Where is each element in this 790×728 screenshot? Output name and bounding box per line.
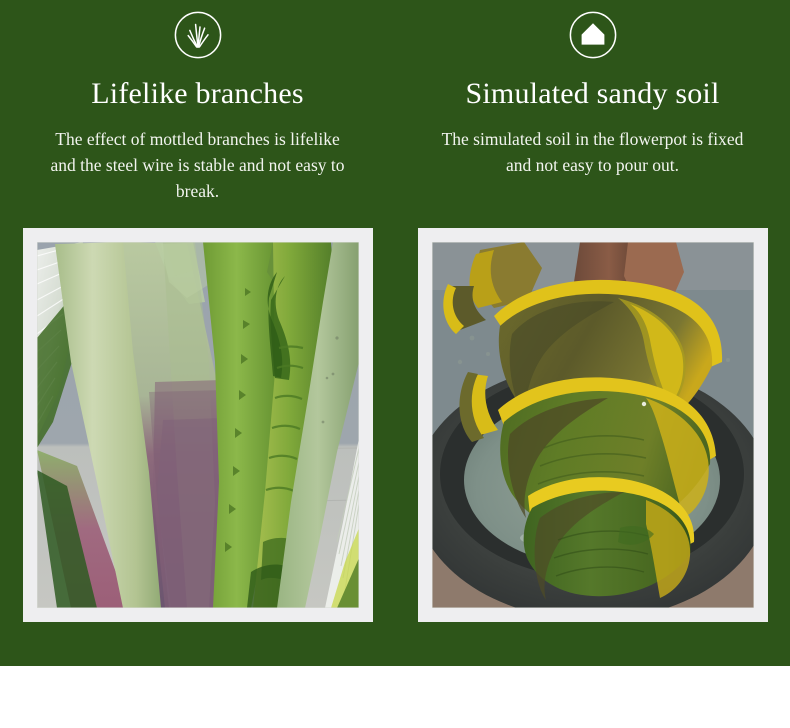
photo-card-slot-left (0, 228, 395, 622)
photo-card-slot-right (395, 228, 790, 622)
photo-card (23, 228, 373, 622)
grass-icon-svg (173, 10, 223, 60)
page-title: Simulated sandy soil (466, 76, 720, 112)
sandy-soil-photo-svg (432, 242, 754, 608)
feature-description: The simulated soil in the flowerpot is f… (433, 126, 753, 178)
page-title: Lifelike branches (91, 76, 303, 112)
feature-column-lifelike-branches: Lifelike branches The effect of mottled … (0, 0, 395, 204)
photo-card (418, 228, 768, 622)
grass-icon (173, 10, 223, 60)
feature-columns: Lifelike branches The effect of mottled … (0, 0, 790, 204)
home-icon-svg (568, 10, 618, 60)
photo-card-row (0, 228, 790, 622)
sandy-soil-photo (432, 242, 754, 608)
feature-column-simulated-sandy-soil: Simulated sandy soil The simulated soil … (395, 0, 790, 204)
branches-photo-svg (37, 242, 359, 608)
feature-description: The effect of mottled branches is lifeli… (42, 126, 354, 204)
footer-whitespace (0, 666, 790, 728)
home-icon (568, 10, 618, 60)
feature-banner: Lifelike branches The effect of mottled … (0, 0, 790, 666)
branches-photo (37, 242, 359, 608)
